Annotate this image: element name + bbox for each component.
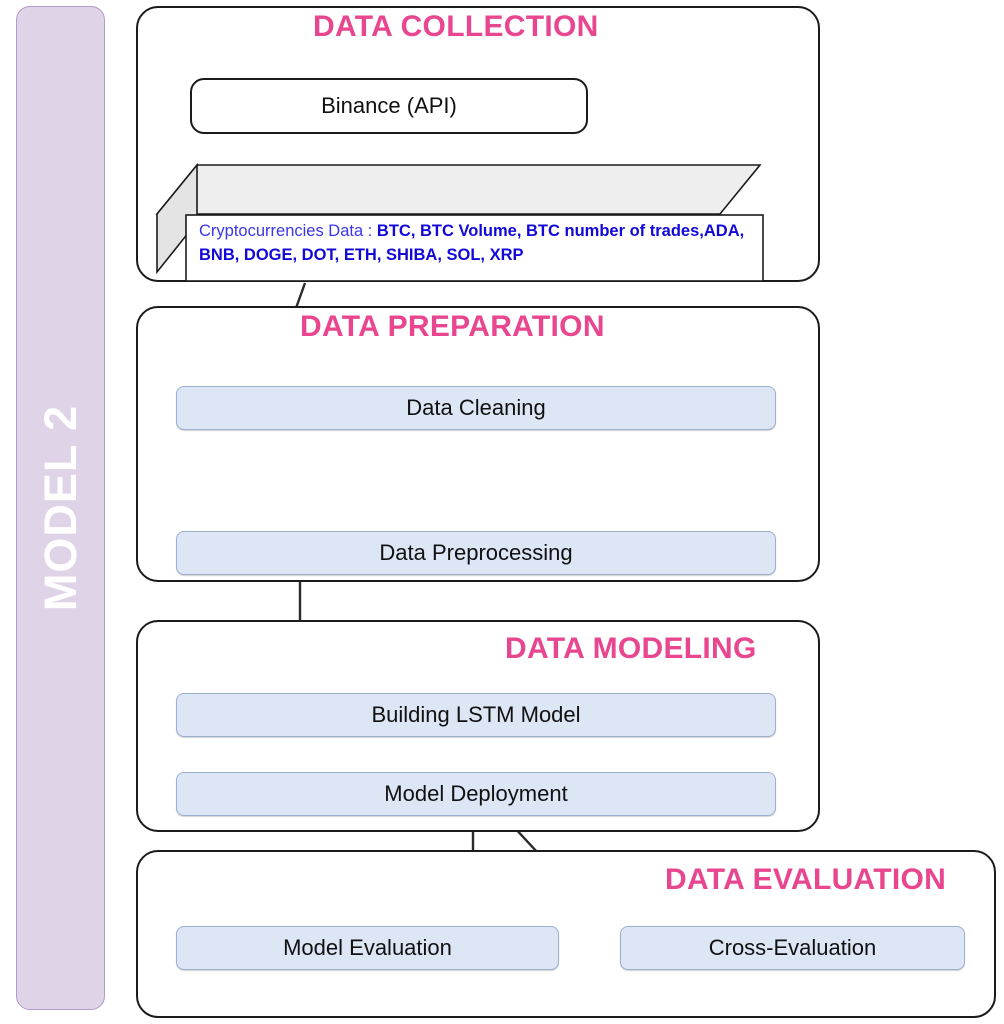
node-cross-evaluation[interactable]: Cross-Evaluation [620,926,965,970]
node-data-preprocessing[interactable]: Data Preprocessing [176,531,776,575]
model-banner-label: MODEL 2 [35,405,87,611]
node-model-deployment[interactable]: Model Deployment [176,772,776,816]
node-binance-api[interactable]: Binance (API) [190,78,588,134]
panel-title-data-collection: DATA COLLECTION [313,10,599,44]
model-banner: MODEL 2 [16,6,105,1010]
node-cross-evaluation-label: Cross-Evaluation [709,935,877,961]
node-model-deployment-label: Model Deployment [384,781,567,807]
node-data-preprocessing-label: Data Preprocessing [379,540,572,566]
panel-title-data-modeling: DATA MODELING [505,632,757,666]
datastore-cryptocurrencies[interactable]: Cryptocurrencies Data : BTC, BTC Volume,… [155,162,770,284]
node-binance-api-label: Binance (API) [321,93,457,119]
datastore-top-face [157,165,760,214]
node-model-evaluation[interactable]: Model Evaluation [176,926,559,970]
diagram-canvas: MODEL 2 DATA COLLECTION Binance (API) [0,0,1004,1024]
node-data-cleaning-label: Data Cleaning [406,395,545,421]
node-data-cleaning[interactable]: Data Cleaning [176,386,776,430]
datastore-text: Cryptocurrencies Data : BTC, BTC Volume,… [199,220,755,268]
node-building-lstm-model[interactable]: Building LSTM Model [176,693,776,737]
node-model-evaluation-label: Model Evaluation [283,935,452,961]
node-building-lstm-model-label: Building LSTM Model [371,702,580,728]
panel-title-data-preparation: DATA PREPARATION [300,310,605,344]
panel-title-data-evaluation: DATA EVALUATION [665,863,946,897]
datastore-lead-label: Cryptocurrencies Data : [199,222,377,240]
